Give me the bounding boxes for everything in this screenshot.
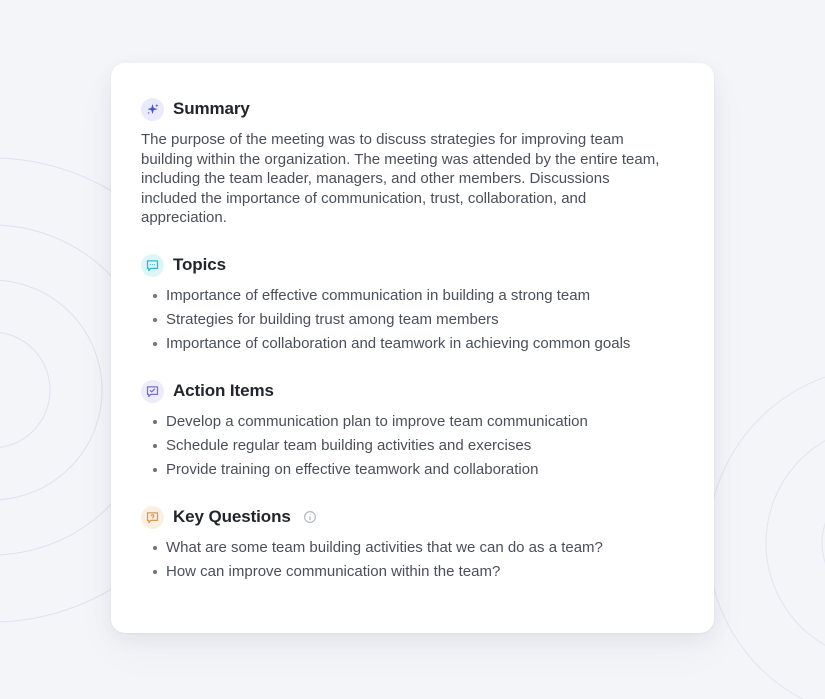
section-summary-header: Summary xyxy=(141,98,684,121)
key-questions-list: What are some team building activities t… xyxy=(141,538,684,582)
section-key-questions-header: Key Questions xyxy=(141,506,684,529)
list-item: Importance of effective communication in… xyxy=(141,286,676,306)
section-action-items: Action Items Develop a communication pla… xyxy=(141,380,684,480)
chat-bubble-dots-icon xyxy=(141,254,164,277)
summary-paragraph: The purpose of the meeting was to discus… xyxy=(141,130,666,228)
section-topics: Topics Importance of effective communica… xyxy=(141,254,684,354)
section-topics-header: Topics xyxy=(141,254,684,277)
list-item: Importance of collaboration and teamwork… xyxy=(141,334,676,354)
decor-ring-right-3 xyxy=(708,367,825,699)
section-action-items-header: Action Items xyxy=(141,380,684,403)
topics-list: Importance of effective communication in… xyxy=(141,286,684,354)
section-summary: Summary The purpose of the meeting was t… xyxy=(141,98,684,228)
list-item: Schedule regular team building activitie… xyxy=(141,436,676,456)
list-item: Strategies for building trust among team… xyxy=(141,310,676,330)
section-topics-title: Topics xyxy=(173,255,226,275)
decor-ring-right-2 xyxy=(766,425,825,661)
action-items-list: Develop a communication plan to improve … xyxy=(141,412,684,480)
info-circle-icon[interactable] xyxy=(303,510,317,524)
section-key-questions: Key Questions What are some team buildin… xyxy=(141,506,684,582)
section-action-items-title: Action Items xyxy=(173,381,274,401)
meeting-notes-card: Summary The purpose of the meeting was t… xyxy=(111,63,714,633)
chat-bubble-question-icon xyxy=(141,506,164,529)
section-key-questions-title: Key Questions xyxy=(173,507,291,527)
decor-ring-left-1 xyxy=(0,332,50,448)
list-item: Develop a communication plan to improve … xyxy=(141,412,676,432)
list-item: What are some team building activities t… xyxy=(141,538,676,558)
decor-ring-left-2 xyxy=(0,280,102,500)
section-summary-title: Summary xyxy=(173,99,250,119)
sparkle-icon xyxy=(141,98,164,121)
chat-bubble-check-icon xyxy=(141,380,164,403)
list-item: Provide training on effective teamwork a… xyxy=(141,460,676,480)
list-item: How can improve communication within the… xyxy=(141,562,676,582)
